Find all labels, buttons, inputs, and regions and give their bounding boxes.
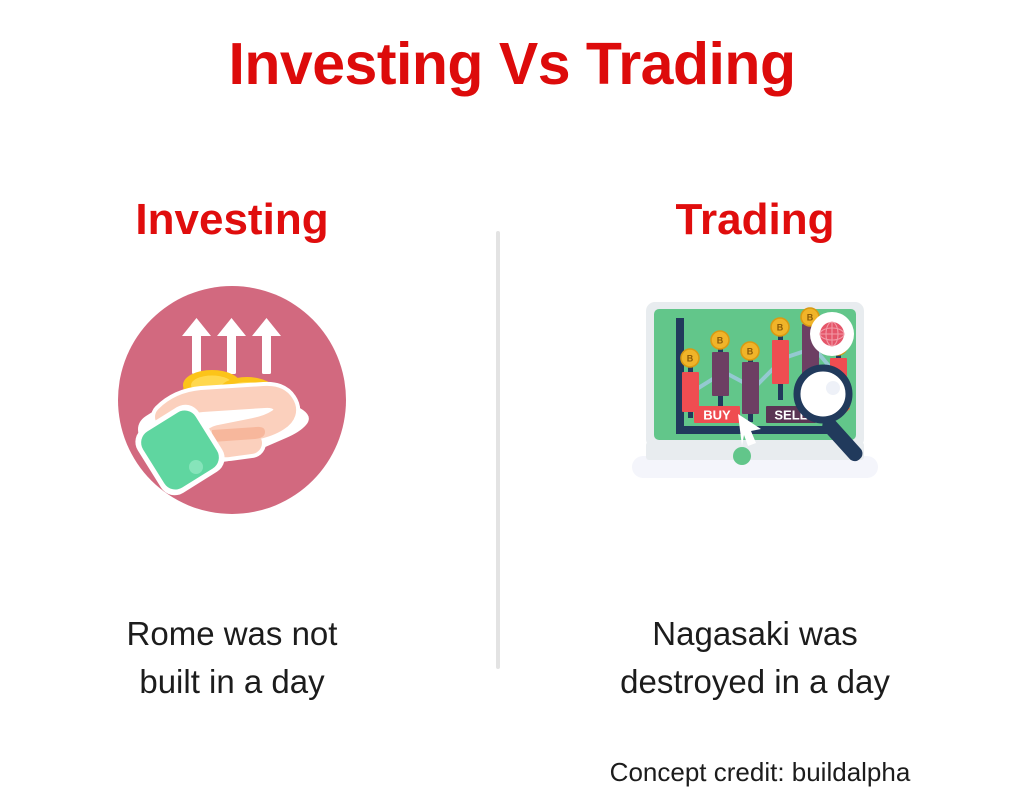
trading-illustration: B B B B [525, 284, 985, 584]
caption-investing: Rome was not built in a day [2, 610, 462, 706]
svg-text:B: B [807, 313, 814, 323]
page-title: Investing Vs Trading [0, 32, 1024, 97]
investing-illustration [2, 284, 462, 584]
column-heading-trading: Trading [525, 196, 985, 244]
column-investing: Investing [2, 196, 462, 706]
column-heading-investing: Investing [2, 196, 462, 244]
svg-text:B: B [687, 354, 694, 364]
caption-trading: Nagasaki was destroyed in a day [525, 610, 985, 706]
up-arrows-icon [182, 318, 281, 374]
hand-holding-coins-icon [116, 284, 348, 516]
buy-label-text: BUY [703, 408, 731, 423]
svg-text:B: B [747, 347, 754, 357]
buy-label[interactable]: BUY [694, 406, 740, 423]
concept-credit: Concept credit: buildalpha [525, 757, 995, 788]
svg-text:B: B [777, 323, 784, 333]
svg-text:B: B [717, 336, 724, 346]
column-divider [496, 231, 500, 669]
column-trading: Trading [525, 196, 985, 706]
globe-icon [810, 312, 854, 356]
laptop-candlestick-chart-icon: B B B B [620, 296, 890, 486]
slide-canvas: Investing Vs Trading Investing [0, 0, 1024, 794]
trackpad-dot [733, 447, 751, 465]
